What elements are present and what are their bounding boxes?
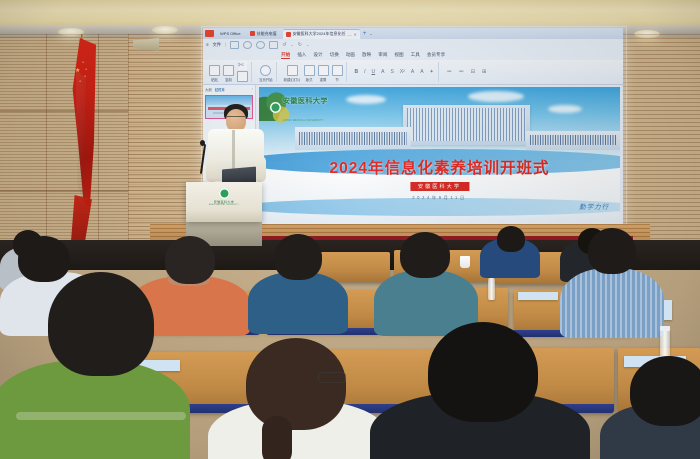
person-head — [18, 236, 70, 282]
ribbon-tab-home[interactable]: 开始 — [281, 52, 290, 59]
section-label: 节 — [335, 77, 338, 82]
ribbon-tab-review[interactable]: 审阅 — [378, 52, 387, 58]
building-windows — [407, 108, 526, 141]
podium: 安徽医科大学 ANHUI MEDICAL UNIVERSITY — [186, 182, 262, 222]
tab-slides[interactable]: 幻灯片 — [215, 87, 225, 92]
podium-emblem-sub: ANHUI MEDICAL UNIVERSITY — [209, 204, 239, 206]
ribbon-tab-transition[interactable]: 切换 — [330, 52, 339, 58]
bold-icon[interactable]: B — [354, 69, 360, 75]
hamburger-icon[interactable]: ≡ — [206, 42, 209, 47]
university-name: 安徽医科大学 — [283, 98, 328, 105]
wall-right — [620, 34, 700, 244]
person-head-dark — [428, 322, 538, 422]
minimize-icon[interactable]: — — [348, 32, 352, 37]
person-head — [497, 226, 525, 252]
ribbon-tab-animation[interactable]: 动画 — [346, 52, 355, 58]
panel-seam — [0, 190, 128, 192]
tab-label: WPS Office — [220, 31, 241, 36]
reset-label: 重置 — [320, 77, 327, 82]
paste-icon — [209, 65, 220, 76]
person-head-green-shirt — [48, 272, 154, 376]
glasses-icon — [227, 116, 245, 121]
slide-date: 2024年9月11日 — [412, 195, 467, 201]
start-from-current-button[interactable]: 当页开始 — [259, 65, 273, 82]
panel-seam — [0, 110, 128, 112]
wps-ribbon-tabs: 开始 插入 设计 切换 动画 放映 审阅 视图 工具 会员专享 — [203, 50, 623, 60]
undo-icon[interactable]: ↺ — [282, 42, 286, 48]
bottle-cap — [660, 326, 670, 331]
underline-icon[interactable]: U — [371, 69, 377, 75]
new-slide-button[interactable]: 新建幻灯片 — [284, 65, 301, 82]
section-button[interactable]: 节 — [332, 65, 343, 82]
format-brush-icon — [237, 71, 248, 82]
photo-scene: ★ ★ ★ ★ ★ WPS Office 技能充电值 安徽医科大学2024年信息… — [0, 0, 700, 459]
paper-cup — [460, 256, 470, 268]
align-left-icon[interactable]: ⊟ — [470, 69, 476, 75]
cloud — [468, 91, 524, 102]
highlight-icon[interactable]: A — [419, 69, 424, 75]
slide-canvas[interactable]: 安徽医科大学 ANHUI MEDICAL UNIVERSITY 2024年信息化… — [259, 87, 620, 219]
chevron-down-icon[interactable]: ⌄ — [369, 31, 372, 36]
thumbnail-tabs: 大纲 幻灯片 ‹ — [203, 85, 255, 93]
reset-button[interactable]: 重置 — [318, 65, 329, 82]
water-bottle — [488, 278, 495, 300]
wps-ribbon: 粘贴 复制 ✄ 当页开始 新建幻 — [203, 60, 623, 85]
building-right-windows — [530, 135, 617, 146]
cut-icon: ✄ — [238, 61, 247, 70]
clear-format-icon[interactable]: ✦ — [429, 69, 435, 75]
blue-handout — [518, 292, 558, 300]
tab-active-presentation[interactable]: 安徽医科大学2024年信息化任 — ✕ — [283, 29, 360, 39]
new-slide-label: 新建幻灯片 — [284, 77, 301, 82]
glasses-icon — [318, 372, 346, 383]
person-head — [165, 236, 215, 284]
ribbon-tab-tools[interactable]: 工具 — [411, 52, 420, 58]
podium-emblem: 安徽医科大学 ANHUI MEDICAL UNIVERSITY — [209, 188, 239, 206]
paste-label: 粘贴 — [211, 77, 218, 82]
person-head-right — [630, 356, 700, 426]
save-icon[interactable] — [230, 41, 239, 49]
cut-button[interactable]: ✄ — [237, 61, 248, 82]
microphone-head — [200, 140, 205, 146]
ribbon-tab-slideshow[interactable]: 放映 — [362, 52, 371, 58]
layout-icon — [304, 65, 315, 76]
building-left-windows — [299, 132, 407, 145]
slide-calligraphy: 勤学力行 — [579, 201, 609, 211]
strike-icon[interactable]: A — [380, 69, 385, 75]
copy-button[interactable]: 复制 — [223, 65, 234, 82]
ribbon-tab-member[interactable]: 会员专享 — [427, 52, 445, 58]
paste-button[interactable]: 粘贴 — [209, 65, 220, 82]
undo-dropdown-icon[interactable]: ⌄ — [290, 42, 293, 47]
ribbon-group-font: B I U A S X² A A ✦ — [351, 62, 439, 82]
redo-icon[interactable]: ↻ — [298, 42, 302, 48]
wps-tab-bar: WPS Office 技能充电值 安徽医科大学2024年信息化任 — ✕ + ⌄ — [203, 28, 623, 39]
podium-emblem-icon — [219, 188, 230, 199]
bullet-list-icon[interactable]: ≔ — [446, 69, 453, 75]
print-icon[interactable] — [243, 41, 252, 49]
start-label: 当页开始 — [259, 77, 273, 82]
ribbon-group-clipboard: 粘贴 复制 ✄ — [206, 62, 252, 82]
ribbon-group-slideshow: 当页开始 — [256, 62, 277, 82]
wps-logo-icon — [205, 30, 214, 37]
ribbon-tab-design[interactable]: 设计 — [313, 52, 322, 58]
person-head — [588, 228, 636, 274]
new-tab-icon[interactable]: + — [363, 31, 367, 37]
redo-dropdown-icon[interactable]: ⌄ — [306, 42, 309, 47]
copy-icon — [223, 65, 234, 76]
layout-button[interactable]: 版式 — [304, 65, 315, 82]
person-head — [274, 234, 322, 280]
person-shoulders-striped — [560, 268, 664, 338]
copy-label: 复制 — [225, 77, 232, 82]
close-icon[interactable]: ✕ — [354, 32, 357, 37]
file-menu[interactable]: 文件 — [213, 42, 222, 48]
slide-canvas-area: 安徽医科大学 ANHUI MEDICAL UNIVERSITY 2024年信息化… — [256, 85, 623, 229]
superscript-icon[interactable]: X² — [399, 69, 406, 75]
tab-skill-doc[interactable]: 技能充电值 — [247, 29, 280, 38]
person-head — [400, 232, 450, 278]
wps-quick-access-bar: ≡ 文件 | ↺ ⌄ ↻ ⌄ — [203, 39, 623, 50]
ribbon-tab-view[interactable]: 视图 — [394, 52, 403, 58]
slide-organization: 安徽医科大学 — [410, 182, 469, 191]
shirt-placket — [232, 130, 235, 170]
collar-seam — [16, 412, 186, 420]
tab-outline[interactable]: 大纲 — [205, 87, 212, 92]
new-slide-icon — [287, 65, 298, 76]
tab-label: 技能充电值 — [257, 31, 277, 37]
ribbon-group-paragraph: ≔ ≕ ⊟ ⊞ — [443, 62, 490, 82]
italic-icon[interactable]: I — [363, 69, 366, 75]
ribbon-tab-insert[interactable]: 插入 — [297, 52, 306, 58]
person-head-woman — [246, 338, 346, 430]
layout-label: 版式 — [306, 77, 313, 82]
downlight — [152, 26, 178, 34]
align-center-icon[interactable]: ⊞ — [481, 69, 487, 75]
person-shoulders-blue — [248, 272, 348, 334]
play-slide-icon — [260, 65, 271, 76]
slide-title: 2024年信息化素养培训开班式 — [330, 156, 550, 178]
numbered-list-icon[interactable]: ≕ — [458, 69, 465, 75]
ribbon-group-slides: 新建幻灯片 版式 重置 节 — [281, 62, 347, 82]
wood-panel — [98, 34, 129, 264]
cloud — [346, 95, 386, 104]
section-icon — [332, 65, 343, 76]
doc-red-icon — [250, 31, 255, 36]
ppt-red-icon — [286, 32, 291, 37]
tab-wps-office[interactable]: WPS Office — [217, 29, 244, 38]
ponytail — [262, 416, 292, 459]
preview-icon[interactable] — [256, 41, 265, 49]
shadow-icon[interactable]: S — [390, 69, 395, 75]
chevron-left-icon[interactable]: ‹ — [252, 87, 253, 91]
reset-icon — [318, 65, 329, 76]
find-icon[interactable] — [269, 41, 278, 49]
presenter-arm-left — [206, 156, 218, 182]
tab-label: 安徽医科大学2024年信息化任 — [293, 31, 346, 37]
university-name-en: ANHUI MEDICAL UNIVERSITY — [283, 119, 324, 122]
font-color-icon[interactable]: A — [410, 69, 415, 75]
